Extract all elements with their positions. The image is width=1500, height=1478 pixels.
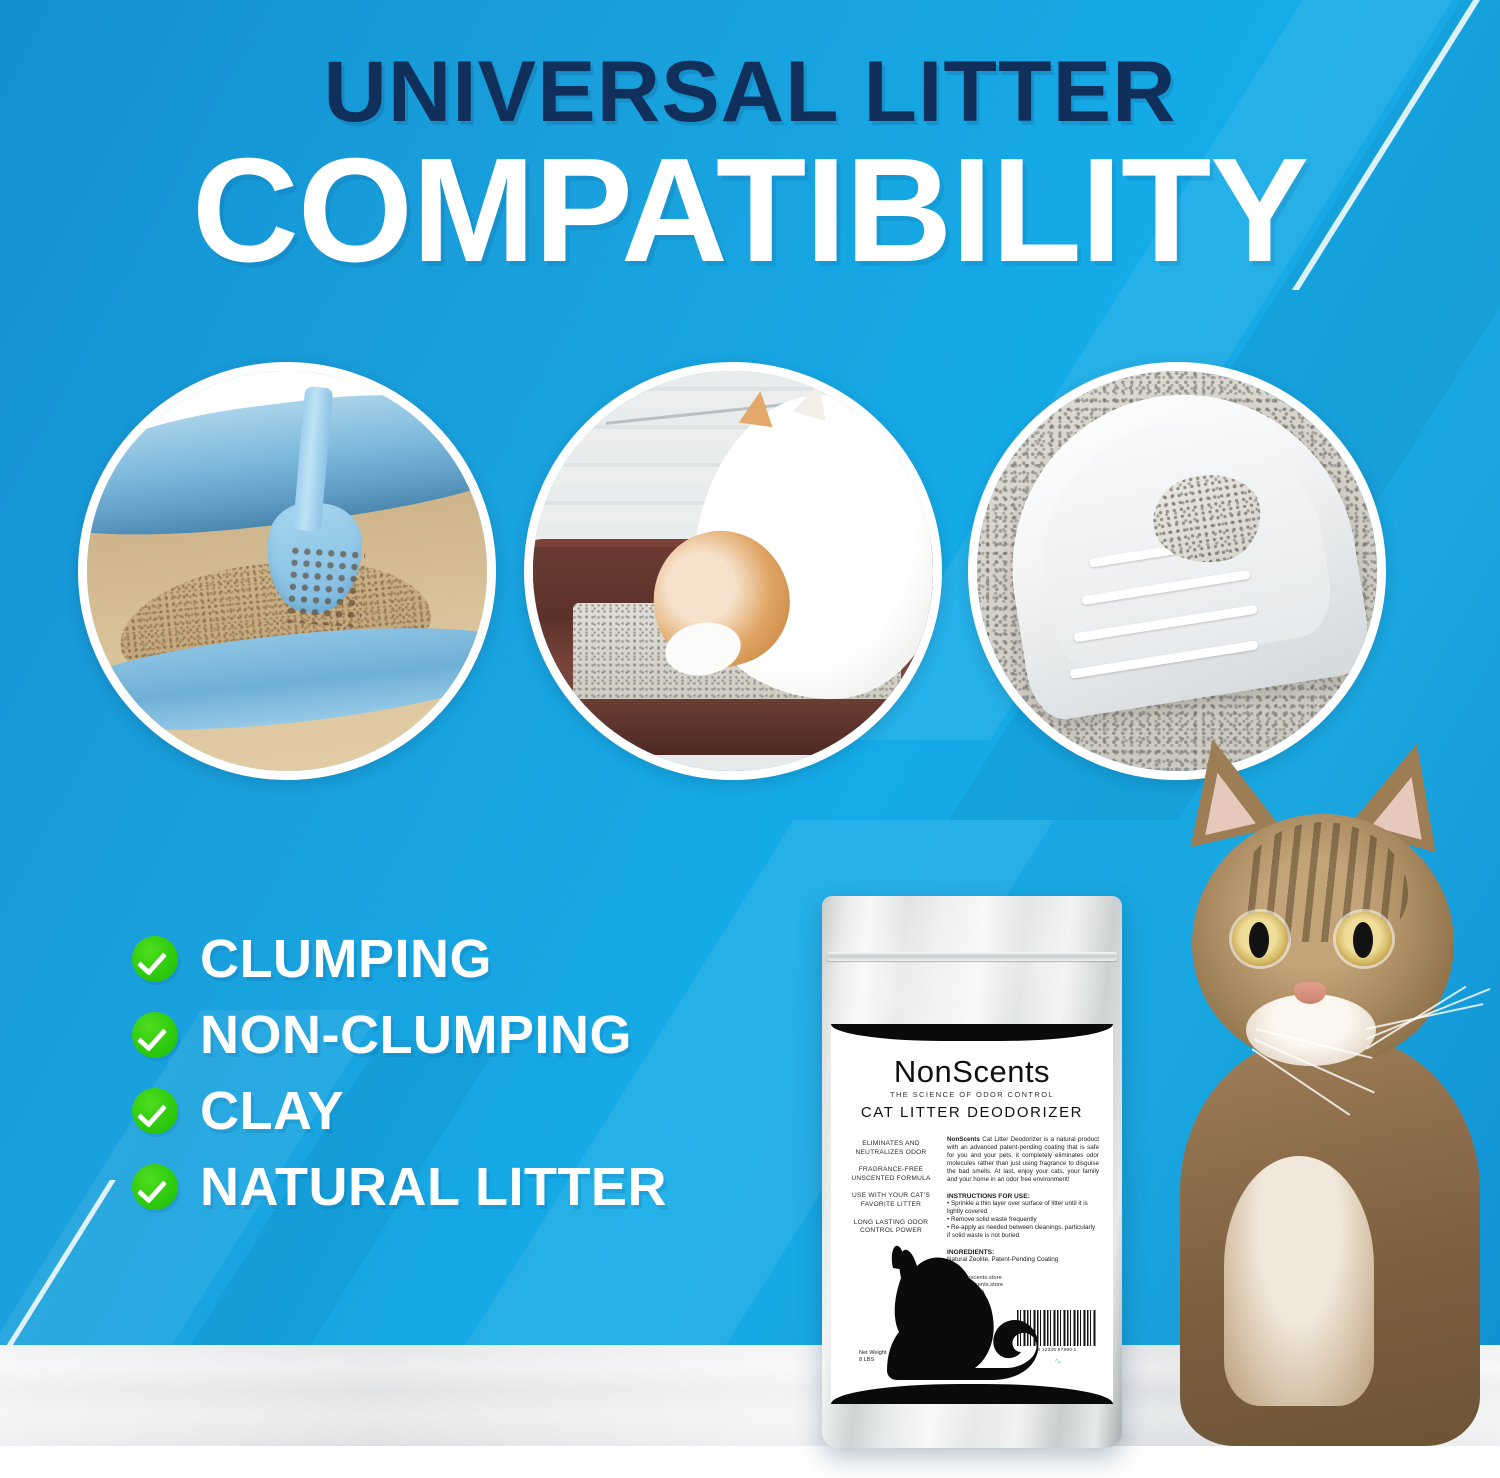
label-description: NonScents Cat Litter Deodorizer is a nat…	[947, 1136, 1099, 1184]
check-circle-icon	[132, 1088, 178, 1134]
feature-item-non-clumping: NON-CLUMPING	[132, 1006, 892, 1064]
feature-label: CLUMPING	[200, 930, 492, 988]
product-package: NonScents THE SCIENCE OF ODOR CONTROL CA…	[822, 896, 1122, 1448]
check-circle-icon	[132, 936, 178, 982]
feature-item-clumping: CLUMPING	[132, 930, 892, 988]
product-name: CAT LITTER DEODORIZER	[831, 1104, 1113, 1121]
net-weight: Net Weight 8 LBS	[859, 1350, 887, 1364]
label-top-black-bar	[831, 1024, 1113, 1041]
tabby-cat-photo	[1128, 736, 1500, 1446]
feature-item-natural-litter: NATURAL LITTER	[132, 1158, 892, 1216]
label-bullet: FRAGRANCE-FREE UNSCENTED FORMULA	[845, 1166, 937, 1183]
page-title: UNIVERSAL LITTER COMPATIBILITY	[0, 44, 1500, 286]
label-bullet: ELIMINATES AND NEUTRALIZES ODOR	[845, 1140, 937, 1157]
brand-name: NonScents	[831, 1054, 1113, 1090]
scoop-perforations	[284, 544, 365, 627]
net-weight-value: 8 LBS	[859, 1357, 887, 1364]
floor-white-area	[0, 1446, 1500, 1478]
feature-label: NON-CLUMPING	[200, 1006, 632, 1064]
photo-circle-blue-litterbox	[78, 362, 496, 780]
net-weight-label: Net Weight	[859, 1350, 887, 1357]
feature-label: CLAY	[200, 1082, 344, 1140]
cat-eye-right	[1336, 912, 1392, 966]
instructions-heading: INSTRUCTIONS FOR USE:	[947, 1193, 1099, 1200]
feature-item-clay: CLAY	[132, 1082, 892, 1140]
feature-list: CLUMPING NON-CLUMPING CLAY NATURAL LITTE…	[132, 930, 892, 1234]
cat-eye-left	[1232, 912, 1288, 966]
label-bullet: USE WITH YOUR CAT'S FAVORITE LITTER	[845, 1192, 937, 1209]
brand-tagline: THE SCIENCE OF ODOR CONTROL	[831, 1090, 1113, 1099]
photo-circle-kitten-litterbox	[524, 362, 942, 780]
feature-label: NATURAL LITTER	[200, 1158, 667, 1216]
cat-silhouette-icon	[857, 1234, 1067, 1394]
instruction-line: • Remove solid waste frequently	[947, 1216, 1099, 1224]
product-label: NonScents THE SCIENCE OF ODOR CONTROL CA…	[831, 1024, 1113, 1404]
cat-chest	[1224, 1156, 1374, 1406]
product-infographic: UNIVERSAL LITTER COMPATIBILITY	[0, 0, 1500, 1478]
instruction-line: • Sprinkle a thin layer over surface of …	[947, 1200, 1099, 1216]
label-description-text: Cat Litter Deodorizer is a natural produ…	[947, 1136, 1099, 1183]
photo-circle-white-scoop	[968, 362, 1386, 780]
label-left-bullets: ELIMINATES AND NEUTRALIZES ODOR FRAGRANC…	[845, 1140, 937, 1245]
kitten-ear-left	[739, 389, 777, 427]
check-circle-icon	[132, 1164, 178, 1210]
headline-line-1: UNIVERSAL LITTER	[0, 44, 1500, 140]
zipper-seal	[826, 952, 1118, 961]
check-circle-icon	[132, 1012, 178, 1058]
label-description-brand: NonScents	[947, 1136, 980, 1143]
headline-line-2: COMPATIBILITY	[0, 136, 1500, 286]
